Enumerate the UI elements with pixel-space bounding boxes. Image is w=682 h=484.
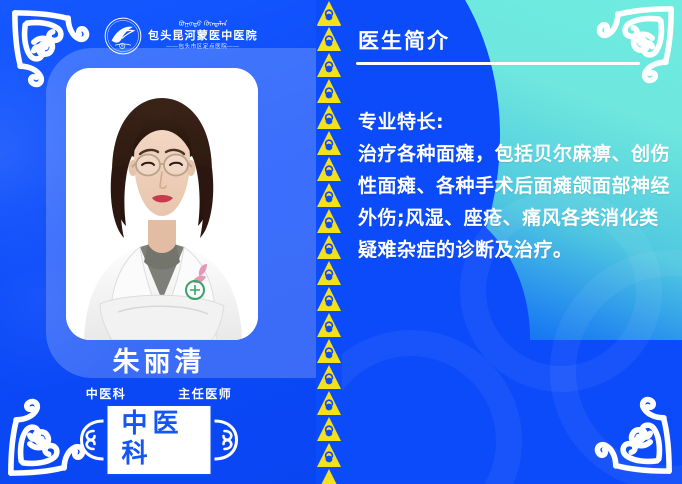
left-panel: 中 ᠪᠤᠭᠤᠲᠤ ᠬᠥᠨᠳᠡᠯᠡᠨ 包头昆河蒙医中医院 ——包头市区定点医院——	[0, 0, 318, 484]
hospital-mongolian-name: ᠪᠤᠭᠤᠲᠤ ᠬᠥᠨᠳᠡᠯᠡᠨ	[179, 21, 228, 29]
doctor-title: 主任医师	[178, 385, 232, 402]
intro-text: 治疗各种面瘫，包括贝尔麻痹、创伤性面瘫、各种手术后面瘫颌面部神经外伤;风湿、座疮…	[358, 138, 670, 266]
intro-body: 专业特长: 治疗各种面瘫，包括贝尔麻痹、创伤性面瘫、各种手术后面瘫颌面部神经外伤…	[358, 106, 670, 266]
scroll-right-ornament	[213, 419, 239, 461]
doctor-name: 朱丽清	[0, 347, 318, 379]
doctor-photo-card	[66, 68, 258, 340]
hospital-leaf-emblem-icon: 中	[104, 17, 142, 55]
department-badge: 中医科	[80, 404, 239, 476]
hospital-name-group: ᠪᠤᠭᠤᠲᠤ ᠬᠥᠨᠳᠡᠯᠡᠨ 包头昆河蒙医中医院 ——包头市区定点医院——	[148, 21, 258, 51]
hospital-logo: 中 ᠪᠤᠭᠤᠲᠤ ᠬᠥᠨᠳᠡᠯᠡᠨ 包头昆河蒙医中医院 ——包头市区定点医院——	[104, 10, 284, 62]
zigzag-spiral-pattern-icon	[316, 0, 342, 484]
yellow-divider-band	[316, 0, 342, 484]
right-panel: 医生简介 专业特长: 治疗各种面瘫，包括贝尔麻痹、创伤性面瘫、各种手术后面瘫颌面…	[340, 0, 682, 484]
doctor-meta: 中医科 主任医师	[0, 385, 318, 402]
department-badge-label: 中医科	[106, 404, 213, 476]
intro-lead: 专业特长:	[358, 106, 670, 138]
scroll-left-ornament	[80, 419, 106, 461]
doctor-portrait	[66, 68, 258, 340]
hospital-name: 包头昆河蒙医中医院	[148, 30, 258, 43]
doctor-profile-poster: 中 ᠪᠤᠭᠤᠲᠤ ᠬᠥᠨᠳᠡᠯᠡᠨ 包头昆河蒙医中医院 ——包头市区定点医院——	[0, 0, 682, 484]
hospital-subtitle: ——包头市区定点医院——	[166, 44, 239, 51]
doctor-department: 中医科	[86, 385, 127, 402]
section-title-underline	[356, 62, 640, 65]
svg-text:中: 中	[121, 44, 124, 48]
section-title: 医生简介	[358, 28, 450, 54]
